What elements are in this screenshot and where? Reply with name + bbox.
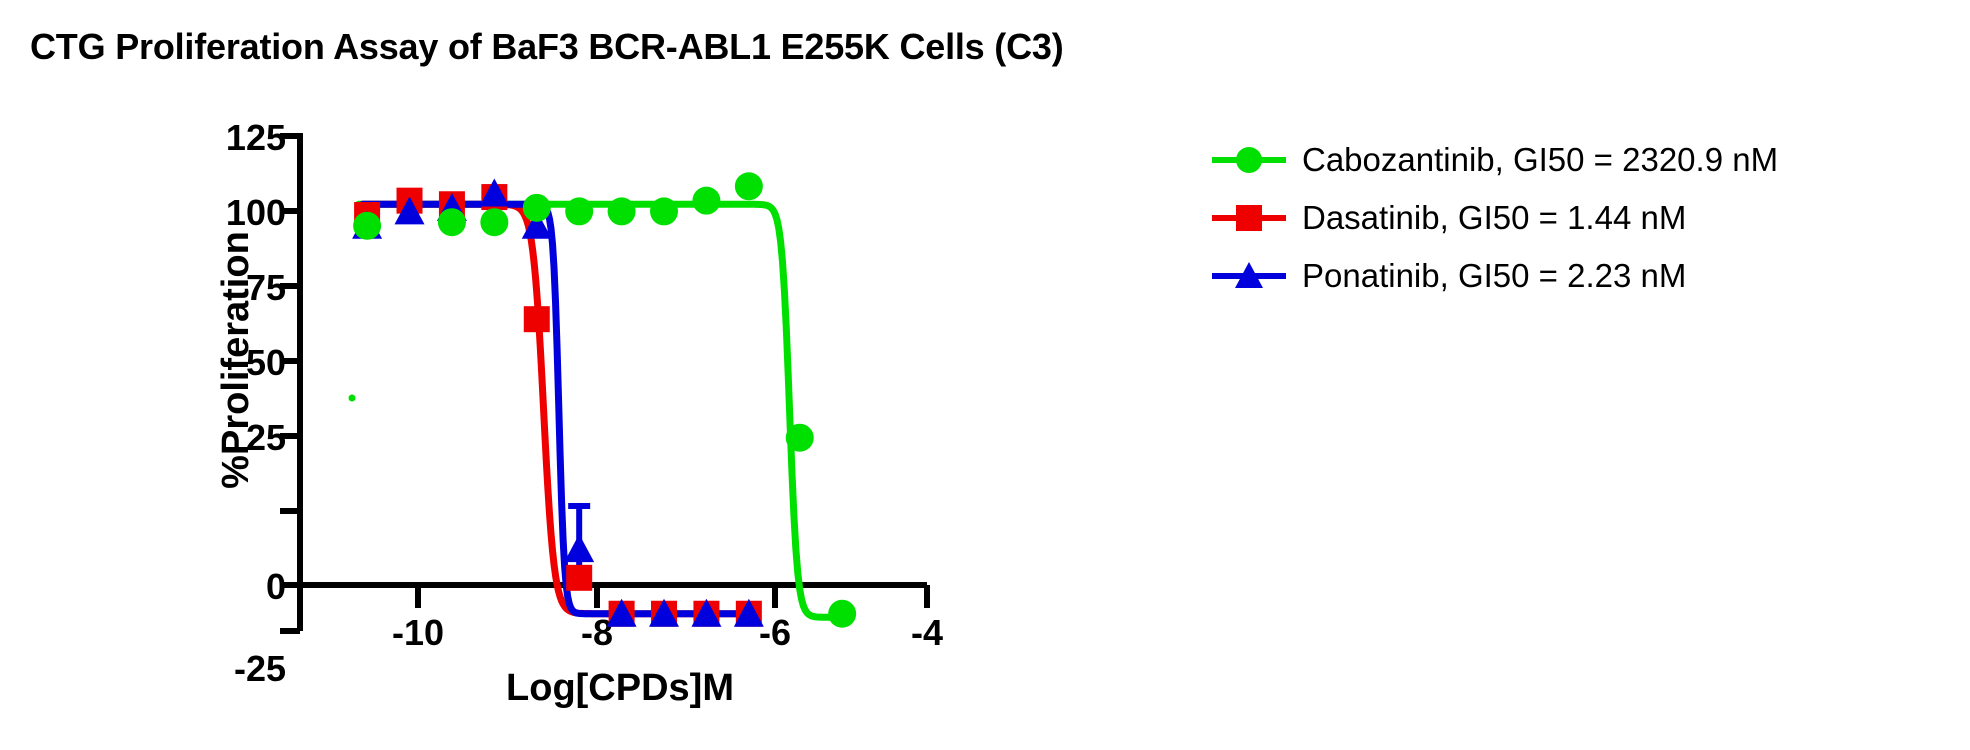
y-tick-label-neg25: -25 [234, 648, 286, 689]
y-tick-label-0: 0 [266, 566, 286, 607]
legend-marker-square-icon [1210, 198, 1288, 238]
x-axis-label: Log[CPDs]M [506, 667, 734, 709]
y-axis-label: %Proliferation [215, 231, 257, 489]
legend-label-ponatinib: Ponatinib, GI50 = 2.23 nM [1288, 257, 1686, 295]
data-point [438, 208, 466, 236]
data-point [566, 565, 592, 591]
y-tick-label-100: 100 [226, 192, 286, 233]
legend: Cabozantinib, GI50 = 2320.9 nM Dasatinib… [1210, 140, 1778, 296]
data-point [480, 208, 508, 236]
x-tick-label-neg8: -8 [581, 612, 613, 653]
data-point [524, 306, 550, 332]
plot-area: 125 100 75 50 25 0 -25 -10 -8 -6 -4 Log[… [0, 0, 1000, 750]
legend-marker-triangle-icon [1210, 256, 1288, 296]
legend-marker-circle-icon [1210, 140, 1288, 180]
legend-label-cabozantinib: Cabozantinib, GI50 = 2320.9 nM [1288, 141, 1778, 179]
legend-item-cabozantinib[interactable]: Cabozantinib, GI50 = 2320.9 nM [1210, 140, 1778, 180]
x-tick-label-neg4: -4 [911, 612, 943, 653]
data-point [828, 600, 856, 628]
data-point [786, 424, 814, 452]
curve-cabozantinib [359, 204, 851, 617]
curve-ponatinib [363, 204, 757, 613]
data-point [353, 212, 381, 240]
data-point [608, 197, 636, 225]
data-point [564, 534, 594, 562]
data-point [565, 197, 593, 225]
data-point [523, 194, 551, 222]
legend-label-dasatinib: Dasatinib, GI50 = 1.44 nM [1288, 199, 1686, 237]
chart-page: CTG Proliferation Assay of BaF3 BCR-ABL1… [0, 0, 1970, 750]
chart-svg: 125 100 75 50 25 0 -25 -10 -8 -6 -4 Log[… [0, 0, 1000, 750]
x-tick-label-neg10: -10 [392, 612, 444, 653]
legend-item-dasatinib[interactable]: Dasatinib, GI50 = 1.44 nM [1210, 198, 1778, 238]
legend-item-ponatinib[interactable]: Ponatinib, GI50 = 2.23 nM [1210, 256, 1778, 296]
y-tick-label-125: 125 [226, 117, 286, 158]
data-point [650, 197, 678, 225]
series-layer [352, 172, 856, 627]
x-tick-label-neg6: -6 [759, 612, 791, 653]
data-point [735, 172, 763, 200]
data-point [692, 187, 720, 215]
